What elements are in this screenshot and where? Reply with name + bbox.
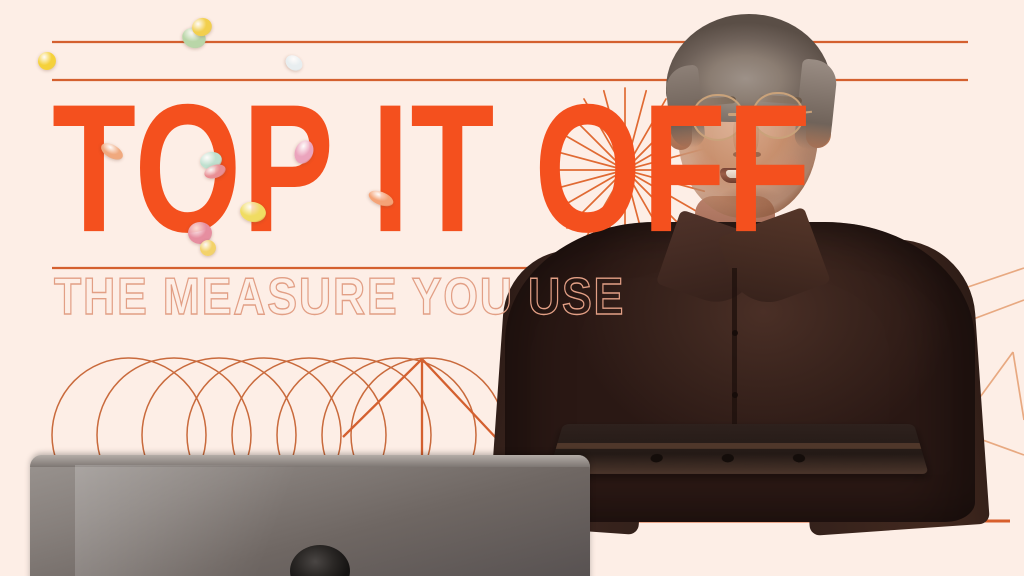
mouth: [720, 168, 778, 183]
candy-yellow-ball: [38, 52, 56, 70]
tablet-hole: [650, 454, 663, 463]
tablet-edge-band: [556, 443, 921, 449]
nostril-right: [753, 152, 761, 157]
candy-pink-pill: [291, 138, 317, 167]
shirt-button: [732, 392, 738, 398]
chin-shadow: [708, 186, 792, 212]
teeth: [726, 170, 772, 178]
candy-white-disc: [283, 52, 306, 74]
shirt-button: [732, 330, 738, 336]
candy-orange-pill-b: [367, 188, 396, 210]
title-card: TOP IT OFF THE MEASURE YOU USE: [0, 0, 1024, 576]
tablet-hole: [722, 454, 734, 463]
candy-orange-pill-a: [98, 140, 125, 163]
tablet-on-lectern: [548, 424, 928, 474]
eyeglasses-lens-right: [752, 92, 804, 139]
tablet-hole: [793, 454, 806, 463]
candy-yellow-chunk: [238, 200, 268, 225]
cheek-left: [686, 150, 726, 184]
nostril-left: [733, 152, 741, 157]
candy-cream-ball: [200, 240, 216, 256]
